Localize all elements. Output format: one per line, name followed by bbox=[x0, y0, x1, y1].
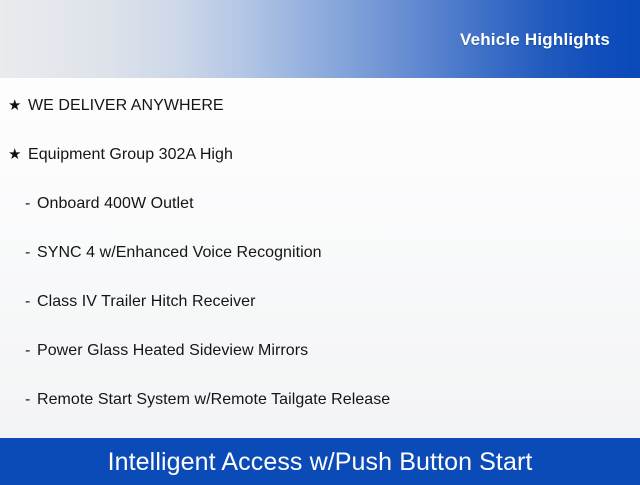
list-item: - Class IV Trailer Hitch Receiver bbox=[0, 291, 640, 340]
list-item-label: Remote Start System w/Remote Tailgate Re… bbox=[37, 389, 390, 410]
list-item-label: Onboard 400W Outlet bbox=[37, 193, 194, 214]
list-item-label: Class IV Trailer Hitch Receiver bbox=[37, 291, 256, 312]
dash-icon: - bbox=[25, 340, 36, 361]
list-item-label: SYNC 4 w/Enhanced Voice Recognition bbox=[37, 242, 322, 263]
star-icon: ★ bbox=[8, 144, 28, 165]
dash-icon: - bbox=[25, 193, 36, 214]
dash-icon: - bbox=[25, 291, 36, 312]
slide-footer: Intelligent Access w/Push Button Start bbox=[0, 438, 640, 485]
list-item: - Remote Start System w/Remote Tailgate … bbox=[0, 389, 640, 438]
list-item: - Power Glass Heated Sideview Mirrors bbox=[0, 340, 640, 389]
star-icon: ★ bbox=[8, 95, 28, 116]
list-item: - SYNC 4 w/Enhanced Voice Recognition bbox=[0, 242, 640, 291]
list-item-label: WE DELIVER ANYWHERE bbox=[28, 95, 224, 116]
list-item: - Onboard 400W Outlet bbox=[0, 193, 640, 242]
highlights-section: ★ WE DELIVER ANYWHERE ★ Equipment Group … bbox=[0, 78, 640, 438]
highlights-list: ★ WE DELIVER ANYWHERE ★ Equipment Group … bbox=[0, 95, 640, 438]
list-item-label: Power Glass Heated Sideview Mirrors bbox=[37, 340, 308, 361]
slide-header: Vehicle Highlights bbox=[0, 0, 640, 78]
page-title: Vehicle Highlights bbox=[460, 30, 610, 50]
footer-caption: Intelligent Access w/Push Button Start bbox=[108, 447, 533, 477]
list-item: ★ Equipment Group 302A High bbox=[0, 144, 640, 193]
dash-icon: - bbox=[25, 389, 36, 410]
list-item: ★ WE DELIVER ANYWHERE bbox=[0, 95, 640, 144]
vehicle-highlights-slide: Vehicle Highlights ★ WE DELIVER ANYWHERE… bbox=[0, 0, 640, 480]
list-item-label: Equipment Group 302A High bbox=[28, 144, 233, 165]
dash-icon: - bbox=[25, 242, 36, 263]
